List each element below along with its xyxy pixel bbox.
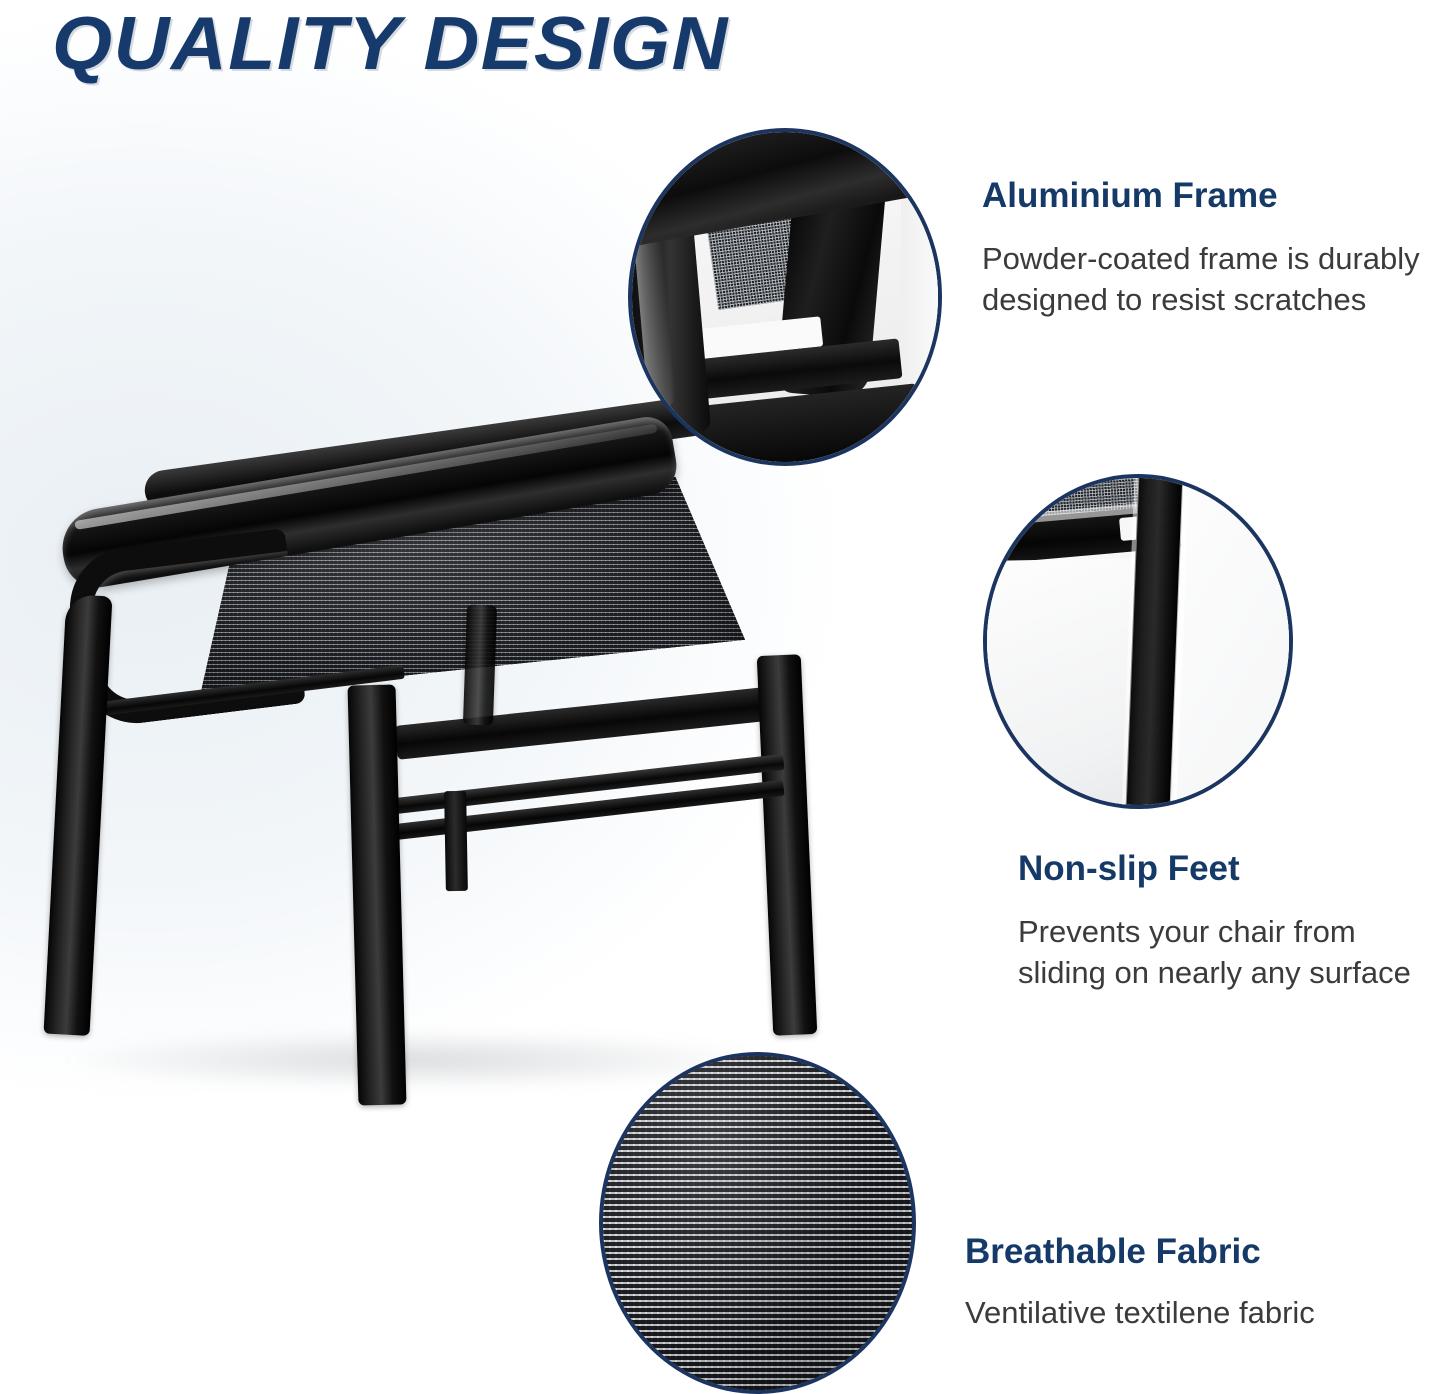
infographic-canvas: QUALITY DESIGN xyxy=(0,0,1445,1394)
chair-leg-closeup-image xyxy=(987,478,1289,805)
feature-heading-non-slip-feet: Non-slip Feet xyxy=(1018,849,1240,889)
feature-body-non-slip-feet: Prevents your chair from sliding on near… xyxy=(1018,911,1445,993)
closeup-backdrop-right xyxy=(1174,474,1293,809)
feature-heading-breathable-fabric: Breathable Fabric xyxy=(965,1232,1261,1272)
frame-stretcher-vertical xyxy=(444,791,468,891)
closeup-weave-sheen xyxy=(603,1056,912,1390)
leg-back-right xyxy=(757,654,818,1036)
detail-circle-breathable-fabric xyxy=(599,1052,916,1394)
page-title: QUALITY DESIGN xyxy=(52,0,729,86)
detail-circle-non-slip-feet xyxy=(983,474,1293,809)
textilene-mesh-closeup-image xyxy=(603,1056,912,1390)
feature-heading-aluminium-frame: Aluminium Frame xyxy=(982,176,1278,216)
detail-circle-aluminium-frame xyxy=(628,128,942,466)
closeup-backdrop-left xyxy=(983,558,1140,809)
feature-body-aluminium-frame: Powder-coated frame is durably designed … xyxy=(982,238,1434,320)
product-image-ottoman xyxy=(35,455,845,1105)
frame-corner-closeup-image xyxy=(632,132,938,462)
feature-body-breathable-fabric: Ventilative textilene fabric xyxy=(965,1292,1445,1333)
leg-back-left xyxy=(463,605,497,726)
frame-side-apron xyxy=(394,684,795,760)
leg-front-left xyxy=(44,594,113,1036)
